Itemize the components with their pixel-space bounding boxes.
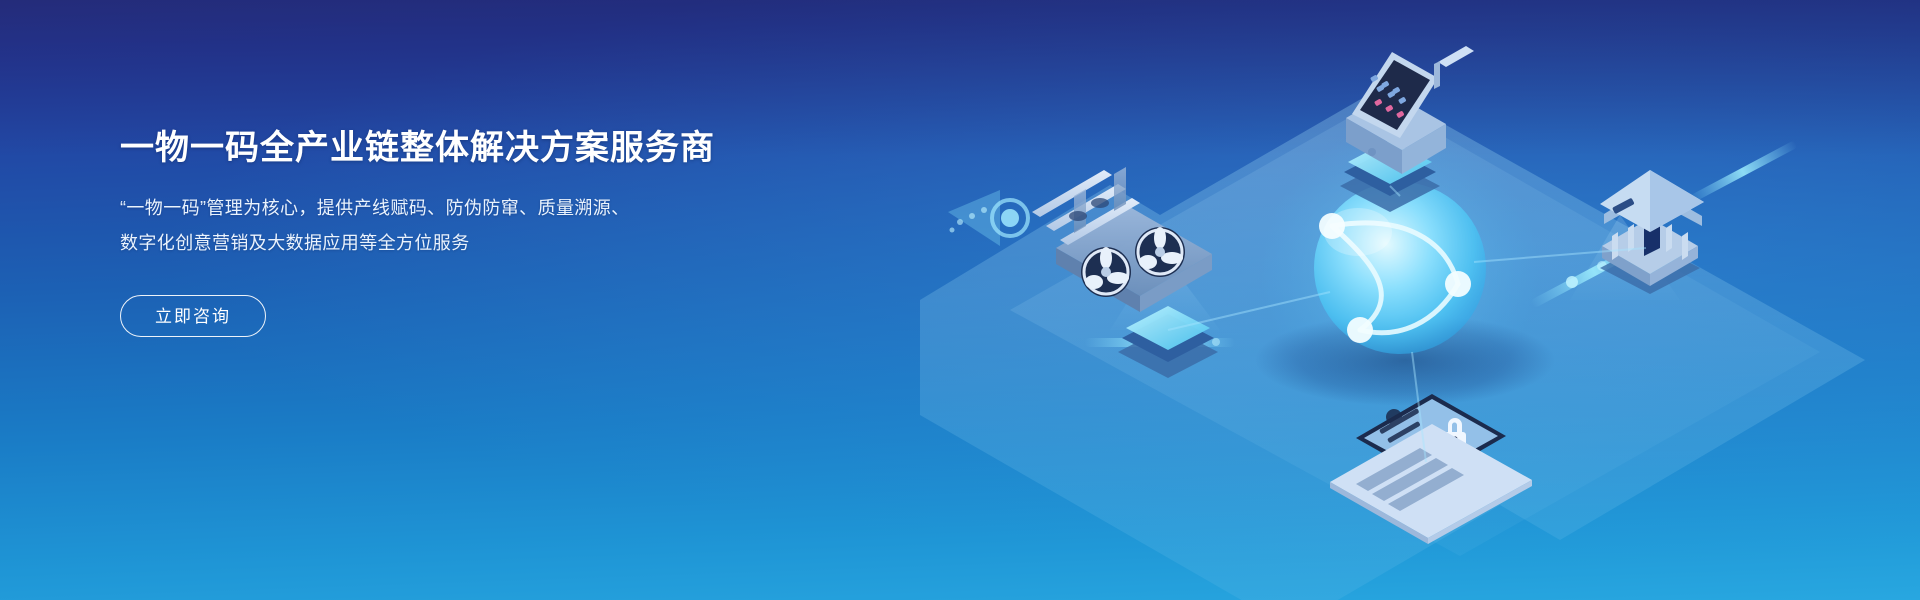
page-title: 一物一码全产业链整体解决方案服务商 — [120, 128, 760, 169]
consult-now-button[interactable]: 立即咨询 — [120, 295, 266, 337]
hero-subtitle: “一物一码”管理为核心，提供产线赋码、防伪防窜、质量溯源、 数字化创意营销及大数… — [120, 191, 680, 261]
hero-illustration — [860, 0, 1920, 600]
data-beam-emitter — [948, 190, 1028, 246]
hero-copy-block: 一物一码全产业链整体解决方案服务商 “一物一码”管理为核心，提供产线赋码、防伪防… — [120, 128, 760, 337]
hero-subtitle-line-1: “一物一码”管理为核心，提供产线赋码、防伪防窜、质量溯源、 — [120, 191, 680, 226]
data-beam-far-right — [1688, 140, 1798, 203]
hero-subtitle-line-2: 数字化创意营销及大数据应用等全方位服务 — [120, 226, 680, 261]
hero-banner: 一物一码全产业链整体解决方案服务商 “一物一码”管理为核心，提供产线赋码、防伪防… — [0, 0, 1920, 600]
